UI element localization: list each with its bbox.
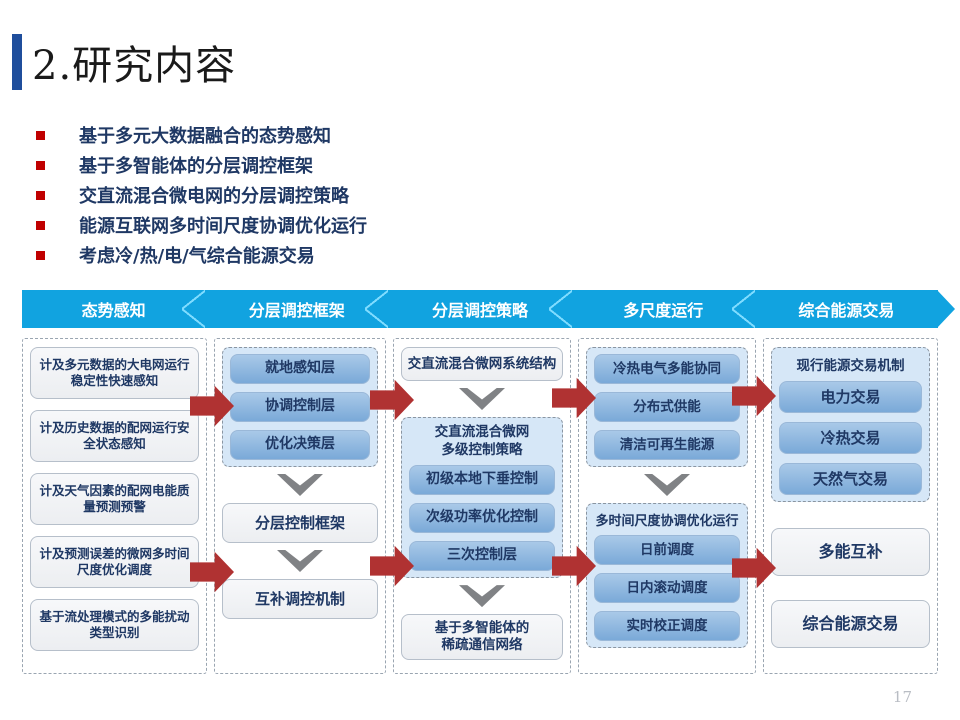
node-box[interactable]: 交直流混合微网系统结构: [401, 347, 563, 381]
slide-header: 2.研究内容: [0, 32, 236, 92]
column-energy-trading: 现行能源交易机制 电力交易 冷热交易 天然气交易 多能互补 综合能源交易: [763, 338, 938, 674]
square-bullet-icon: [36, 191, 45, 200]
list-item: 基于多智能体的分层调控框架: [36, 150, 556, 180]
node-box[interactable]: 实时校正调度: [594, 611, 740, 641]
group-layer-stack: 就地感知层 协调控制层 优化决策层: [222, 347, 378, 467]
node-box[interactable]: 清洁可再生能源: [594, 430, 740, 460]
node-box[interactable]: 计及多元数据的大电网运行稳定性快速感知: [30, 347, 199, 399]
node-box[interactable]: 基于流处理模式的多能扰动类型识别: [30, 599, 199, 651]
node-box[interactable]: 三次控制层: [409, 541, 555, 571]
band-segment-label: 分层调控框架: [249, 297, 345, 321]
node-box[interactable]: 分层控制框架: [222, 503, 378, 543]
node-box[interactable]: 优化决策层: [230, 430, 370, 460]
title-accent-bar: [12, 34, 22, 90]
node-box[interactable]: 电力交易: [779, 381, 922, 413]
band-segment-5[interactable]: 综合能源交易: [755, 290, 938, 328]
node-box[interactable]: 初级本地下垂控制: [409, 465, 555, 495]
node-box[interactable]: 互补调控机制: [222, 579, 378, 619]
node-box[interactable]: 分布式供能: [594, 392, 740, 422]
square-bullet-icon: [36, 251, 45, 260]
diagram-columns: 计及多元数据的大电网运行稳定性快速感知 计及历史数据的配网运行安全状态感知 计及…: [22, 338, 938, 674]
chevron-down-icon: [277, 550, 323, 572]
chevron-down-icon: [459, 585, 505, 607]
node-text-line: 基于多智能体的: [435, 620, 530, 637]
group-title-line: 多级控制策略: [409, 442, 555, 460]
node-box[interactable]: 计及历史数据的配网运行安全状态感知: [30, 410, 199, 462]
list-item: 考虑冷/热/电/气综合能源交易: [36, 240, 556, 270]
node-box[interactable]: 冷热电气多能协同: [594, 354, 740, 384]
node-box[interactable]: 冷热交易: [779, 422, 922, 454]
node-text-line: 稀疏通信网络: [435, 637, 530, 654]
list-item: 能源互联网多时间尺度协调优化运行: [36, 210, 556, 240]
process-band: 态势感知 分层调控框架 分层调控策略 多尺度运行 综合能源交易: [22, 290, 938, 328]
bullet-label: 交直流混合微电网的分层调控策略: [79, 182, 349, 208]
bullet-label: 基于多元大数据融合的态势感知: [79, 122, 331, 148]
node-box[interactable]: 天然气交易: [779, 463, 922, 495]
band-segment-label: 分层调控策略: [432, 297, 528, 321]
group-multilevel-strategy: 交直流混合微网 多级控制策略 初级本地下垂控制 次级功率优化控制 三次控制层: [401, 417, 563, 578]
list-item: 交直流混合微电网的分层调控策略: [36, 180, 556, 210]
page-title: 2.研究内容: [32, 33, 236, 91]
band-segment-label: 多尺度运行: [623, 297, 703, 321]
node-box[interactable]: 次级功率优化控制: [409, 503, 555, 533]
group-title-label: 现行能源交易机制: [779, 354, 922, 374]
band-segment-label: 综合能源交易: [798, 297, 894, 321]
column-multiscale-operation: 冷热电气多能协同 分布式供能 清洁可再生能源 多时间尺度协调优化运行 日前调度 …: [578, 338, 756, 674]
band-segment-2[interactable]: 分层调控框架: [205, 290, 388, 328]
group-multi-energy: 冷热电气多能协同 分布式供能 清洁可再生能源: [586, 347, 748, 467]
node-box[interactable]: 日前调度: [594, 535, 740, 565]
node-box[interactable]: 综合能源交易: [771, 600, 930, 648]
node-box[interactable]: 日内滚动调度: [594, 573, 740, 603]
band-segment-4[interactable]: 多尺度运行: [572, 290, 755, 328]
group-title-label: 多时间尺度协调优化运行: [594, 510, 740, 529]
band-segment-1[interactable]: 态势感知: [22, 290, 205, 328]
chevron-down-icon: [277, 474, 323, 496]
node-box[interactable]: 多能互补: [771, 528, 930, 576]
page-number: 17: [893, 688, 912, 706]
node-box[interactable]: 计及天气因素的配网电能质量预测预警: [30, 473, 199, 525]
square-bullet-icon: [36, 161, 45, 170]
chevron-down-icon: [459, 388, 505, 410]
node-box[interactable]: 计及预测误差的微网多时间尺度优化调度: [30, 536, 199, 588]
list-item: 基于多元大数据融合的态势感知: [36, 120, 556, 150]
group-title-line: 交直流混合微网: [409, 424, 555, 442]
column-control-strategy: 交直流混合微网系统结构 交直流混合微网 多级控制策略 初级本地下垂控制 次级功率…: [393, 338, 571, 674]
bullet-label: 能源互联网多时间尺度协调优化运行: [79, 212, 367, 238]
square-bullet-icon: [36, 221, 45, 230]
node-box[interactable]: 基于多智能体的 稀疏通信网络: [401, 614, 563, 660]
square-bullet-icon: [36, 131, 45, 140]
band-segment-3[interactable]: 分层调控策略: [388, 290, 571, 328]
band-segment-label: 态势感知: [82, 297, 146, 321]
column-control-framework: 就地感知层 协调控制层 优化决策层 分层控制框架 互补调控机制: [214, 338, 386, 674]
node-box[interactable]: 就地感知层: [230, 354, 370, 384]
group-multi-timescale: 多时间尺度协调优化运行 日前调度 日内滚动调度 实时校正调度: [586, 503, 748, 648]
column-situational-awareness: 计及多元数据的大电网运行稳定性快速感知 计及历史数据的配网运行安全状态感知 计及…: [22, 338, 207, 674]
node-box[interactable]: 协调控制层: [230, 392, 370, 422]
bullet-label: 考虑冷/热/电/气综合能源交易: [79, 242, 315, 268]
bullet-list: 基于多元大数据融合的态势感知 基于多智能体的分层调控框架 交直流混合微电网的分层…: [36, 120, 556, 270]
group-current-trading: 现行能源交易机制 电力交易 冷热交易 天然气交易: [771, 347, 930, 502]
chevron-down-icon: [644, 474, 690, 496]
bullet-label: 基于多智能体的分层调控框架: [79, 152, 313, 178]
